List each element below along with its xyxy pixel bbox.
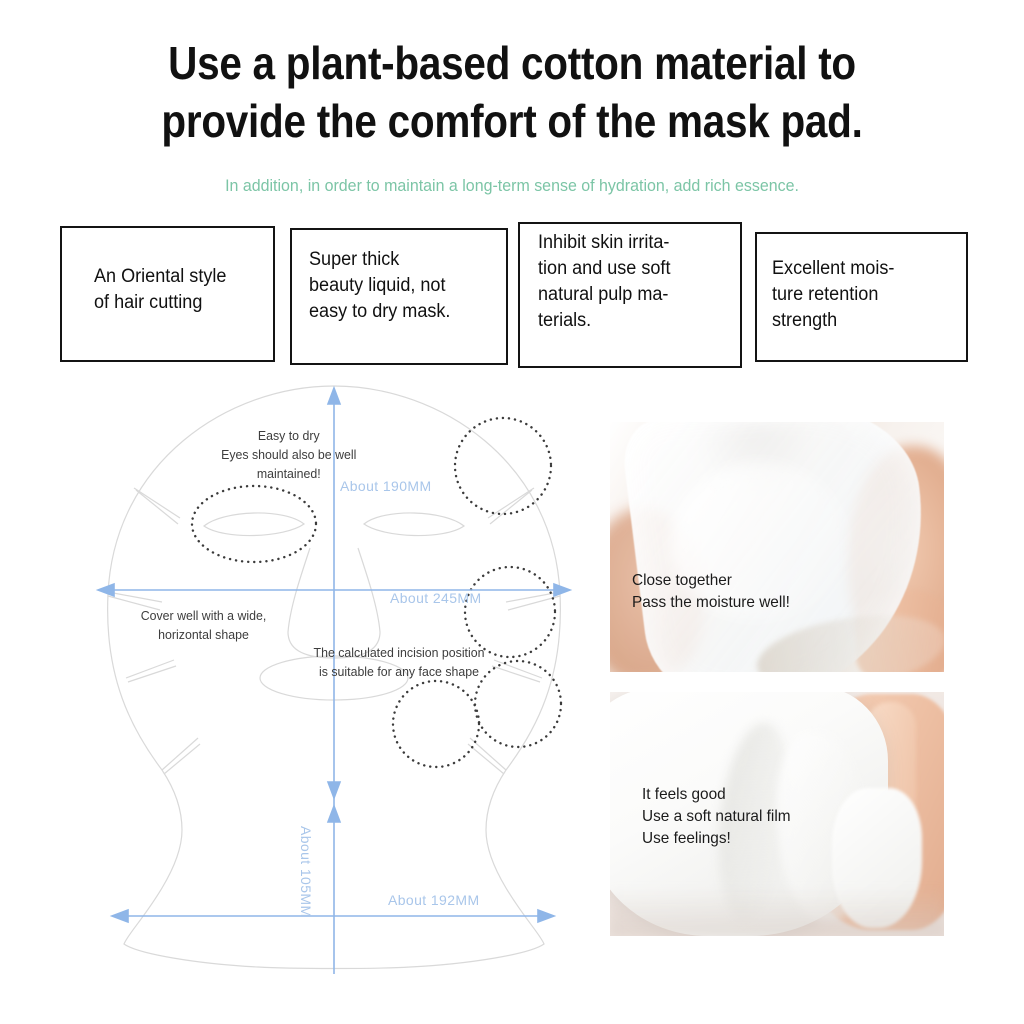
left-eye-opening [204, 513, 304, 536]
annotation-incision-note: The calculated incision position is suit… [304, 643, 494, 681]
arrow-up-mid [328, 806, 340, 822]
slit-upper-right-b [490, 490, 532, 524]
callout-eye [192, 486, 316, 562]
arrow-left-lower [112, 910, 128, 922]
right-eye-opening [364, 513, 464, 536]
dimension-label-width-lower: About 192MM [388, 892, 480, 908]
page-subtitle: In addition, in order to maintain a long… [31, 176, 994, 196]
slit-left-a [108, 592, 162, 602]
mask-diagram: Easy to dry Eyes should also be well mai… [78, 378, 590, 978]
photo-sheet-hand: It feels good Use a soft natural film Us… [610, 692, 944, 936]
dimension-label-width-upper: About 245MM [390, 590, 482, 606]
page-title: Use a plant-based cotton material to pro… [61, 34, 962, 150]
slit-jaw-left-b [164, 744, 200, 774]
slit-upper-left-b [136, 490, 178, 524]
slit-jaw-left-a [162, 738, 198, 770]
photo2-caption: It feels good Use a soft natural film Us… [642, 784, 882, 850]
feature-text-3: Inhibit skin irrita- tion and use soft n… [538, 230, 738, 334]
feature-text-2: Super thick beauty liquid, not easy to d… [309, 247, 499, 325]
arrow-down-mid [328, 782, 340, 798]
annotation-eye-note: Easy to dry Eyes should also be well mai… [208, 426, 370, 483]
title-line-2: provide the comfort of the mask pad. [61, 92, 962, 150]
infographic-page: Use a plant-based cotton material to pro… [0, 0, 1024, 1024]
callout-top-right [455, 418, 551, 514]
title-line-1: Use a plant-based cotton material to [168, 37, 856, 89]
slit-right-a [506, 592, 560, 602]
slit-upper-left-a [134, 488, 180, 518]
dimension-label-height-upper: About 190MM [340, 478, 432, 494]
arrow-left-upper [98, 584, 114, 596]
slit-jaw-right-b [468, 744, 504, 774]
photo2-shadow-bottom [610, 888, 944, 936]
feature-text-1: An Oriental style of hair cutting [94, 264, 275, 316]
dimension-label-height-lower: About 105MM [298, 826, 314, 918]
photo1-caption: Close together Pass the moisture well! [632, 570, 872, 614]
arrow-right-lower [538, 910, 554, 922]
callout-jaw-left [393, 681, 479, 767]
arrow-up-top [328, 388, 340, 404]
feature-text-4: Excellent mois- ture retention strength [772, 256, 962, 334]
photo-sheet-peel: Close together Pass the moisture well! [610, 422, 944, 672]
arrow-right-upper [554, 584, 570, 596]
annotation-width-note: Cover well with a wide, horizontal shape [118, 606, 289, 644]
